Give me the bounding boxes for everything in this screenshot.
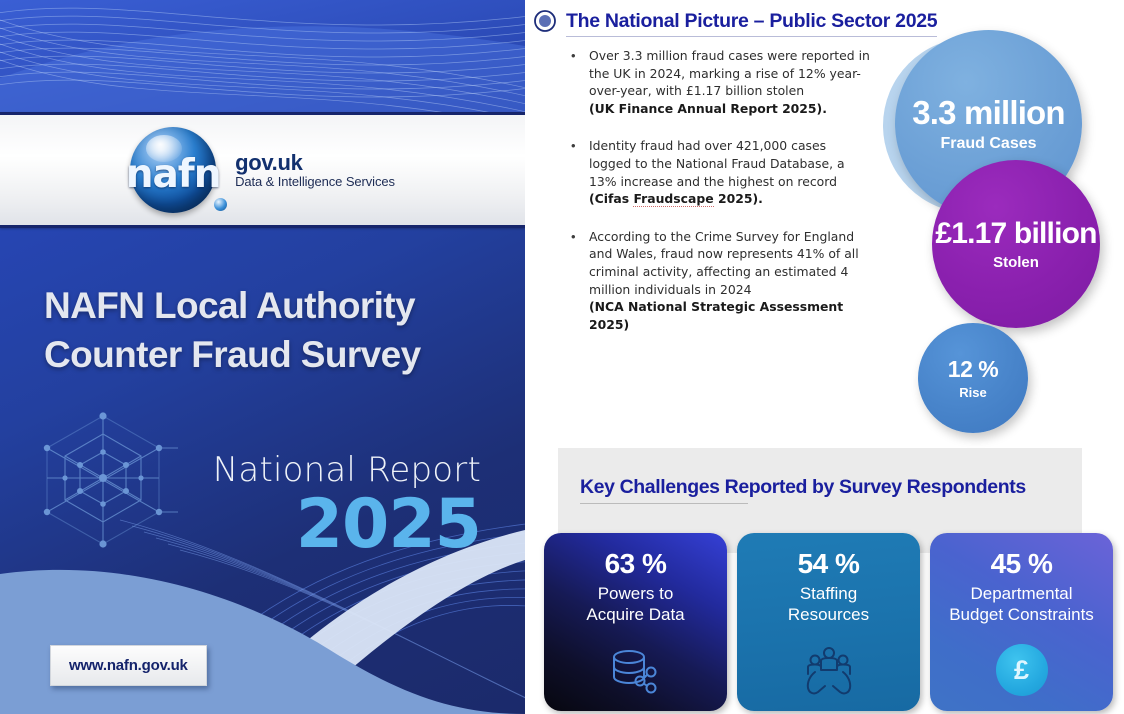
bullet-dot-icon: • xyxy=(571,47,577,117)
stat-circle-shadow-ring xyxy=(883,38,1058,213)
section-title: The National Picture – Public Sector 202… xyxy=(566,10,937,33)
challenge-label-line-2: Acquire Data xyxy=(586,605,684,624)
stat-circle-fraud-cases: 3.3 million Fraud Cases xyxy=(895,30,1082,217)
bullet-source: (Cifas Fraudscape 2025). xyxy=(589,191,763,207)
logo-gov-label: gov.uk xyxy=(235,151,395,174)
challenge-card-budget[interactable]: 45 % Departmental Budget Constraints £ xyxy=(930,533,1113,711)
challenge-label: Staffing Resources xyxy=(737,583,920,625)
logo-text-block: gov.uk Data & Intelligence Services xyxy=(235,151,395,189)
cover-title-line-2: Counter Fraud Survey xyxy=(44,330,421,379)
content-panel: The National Picture – Public Sector 202… xyxy=(525,0,1124,714)
stat-label: Rise xyxy=(959,385,986,400)
bullet-body: According to the Crime Survey for Englan… xyxy=(589,229,859,297)
challenge-label-line-1: Powers to xyxy=(598,584,674,603)
key-challenges-cards: 63 % Powers to Acquire Data xyxy=(544,533,1114,711)
stat-circle-stolen: £1.17 billion Stolen xyxy=(932,160,1100,328)
pound-currency-icon: £ xyxy=(996,644,1048,696)
infographic-page: nafn gov.uk Data & Intelligence Services… xyxy=(0,0,1124,714)
challenge-label-line-1: Staffing xyxy=(800,584,857,603)
list-item: • Identity fraud had over 421,000 cases … xyxy=(571,137,871,207)
nafn-sphere-icon: nafn xyxy=(130,127,216,213)
challenge-card-powers[interactable]: 63 % Powers to Acquire Data xyxy=(544,533,727,711)
bullet-source: (NCA National Strategic Assessment 2025) xyxy=(589,299,843,332)
bullet-text: According to the Crime Survey for Englan… xyxy=(589,228,871,334)
bullet-text: Over 3.3 million fraud cases were report… xyxy=(589,47,871,117)
challenge-label-line-2: Resources xyxy=(788,605,869,624)
challenge-label-line-2: Budget Constraints xyxy=(949,605,1094,624)
bullet-body: Identity fraud had over 421,000 cases lo… xyxy=(589,138,845,188)
target-icon xyxy=(533,9,557,33)
challenge-percent: 54 % xyxy=(737,548,920,580)
website-url-chip[interactable]: www.nafn.gov.uk xyxy=(50,645,207,686)
stat-circle-rise: 12 % Rise xyxy=(918,323,1028,433)
logo-band-bottom-edge xyxy=(0,225,525,228)
bullet-source: (UK Finance Annual Report 2025). xyxy=(589,101,827,116)
database-share-icon xyxy=(607,644,665,696)
bullet-dot-icon: • xyxy=(571,228,577,334)
nafn-logo: nafn gov.uk Data & Intelligence Services xyxy=(130,127,395,213)
logo-band-top-edge xyxy=(0,112,525,115)
bullet-source-prefix: (Cifas xyxy=(589,191,633,206)
list-item: • According to the Crime Survey for Engl… xyxy=(571,228,871,334)
cover-title-line-1: NAFN Local Authority xyxy=(44,281,421,330)
report-label: National Report xyxy=(213,450,481,490)
key-challenges-title: Key Challenges Reported by Survey Respon… xyxy=(580,476,1026,499)
nafn-wordmark: nafn xyxy=(126,155,221,194)
logo-tagline: Data & Intelligence Services xyxy=(235,175,395,189)
cover-panel: nafn gov.uk Data & Intelligence Services… xyxy=(0,0,525,714)
logo-band: nafn gov.uk Data & Intelligence Services xyxy=(0,112,525,228)
challenge-icon-slot xyxy=(544,641,727,699)
stat-label: Stolen xyxy=(993,254,1039,271)
challenge-label-line-1: Departmental xyxy=(970,584,1072,603)
logo-dot-icon xyxy=(214,198,227,211)
report-block: National Report 2025 xyxy=(213,450,481,557)
bullet-text: Identity fraud had over 421,000 cases lo… xyxy=(589,137,871,207)
stat-value: 3.3 million xyxy=(912,94,1065,132)
cover-title: NAFN Local Authority Counter Fraud Surve… xyxy=(44,281,421,379)
stat-value: 12 % xyxy=(948,356,998,383)
challenge-percent: 63 % xyxy=(544,548,727,580)
bullet-body: Over 3.3 million fraud cases were report… xyxy=(589,48,870,98)
bullet-list: • Over 3.3 million fraud cases were repo… xyxy=(571,47,871,333)
challenge-label: Powers to Acquire Data xyxy=(544,583,727,625)
challenge-icon-slot xyxy=(737,641,920,699)
stat-value: £1.17 billion xyxy=(935,217,1096,251)
hexagon-network-icon xyxy=(28,412,178,562)
report-year: 2025 xyxy=(213,492,481,557)
list-item: • Over 3.3 million fraud cases were repo… xyxy=(571,47,871,117)
challenge-percent: 45 % xyxy=(930,548,1113,580)
stat-label: Fraud Cases xyxy=(940,135,1036,153)
challenge-card-staffing[interactable]: 54 % Staffing Resources xyxy=(737,533,920,711)
bullet-dot-icon: • xyxy=(571,137,577,207)
bullet-source-spellcheck: Fraudscape xyxy=(633,191,713,207)
section-header: The National Picture – Public Sector 202… xyxy=(525,0,1124,33)
bullet-source-suffix: 2025). xyxy=(714,191,763,206)
challenge-label: Departmental Budget Constraints xyxy=(930,583,1113,625)
people-in-hands-icon xyxy=(799,644,859,696)
challenge-icon-slot: £ xyxy=(930,641,1113,699)
